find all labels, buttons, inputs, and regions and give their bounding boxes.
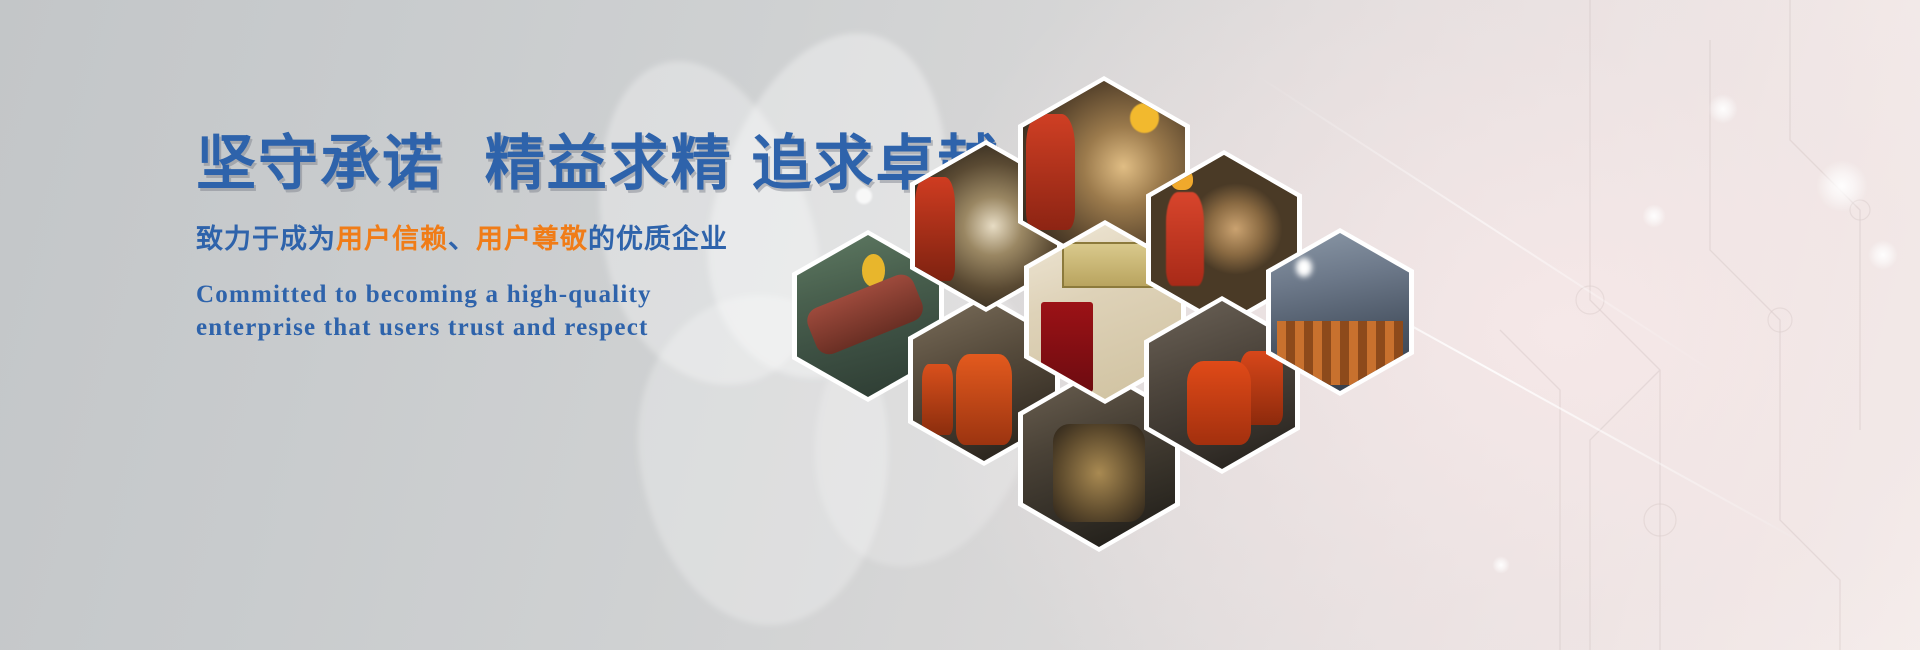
glow-dot-4 [1642, 204, 1666, 228]
glow-dot-3 [1868, 240, 1898, 270]
subtitle-lead: 致力于成为 [196, 224, 336, 254]
glow-dot-1 [1708, 94, 1738, 124]
subtitle-highlight-1: 用户信赖 [336, 224, 448, 254]
headline-part-1: 坚守承诺 [196, 130, 444, 197]
glow-dot-6 [1492, 556, 1510, 574]
headline-part-2: 精益求精 [485, 130, 733, 197]
circuit-board-tracery [1360, 0, 1920, 650]
hexagon-photo-cluster [778, 58, 1418, 508]
subtitle-highlight-2: 用户尊敬 [476, 224, 588, 254]
subtitle-separator: 、 [448, 224, 476, 254]
photo-copper-bar-assembly-line [1271, 233, 1409, 391]
hero-banner: 坚守承诺 精益求精 追求卓越 致力于成为用户信赖、用户尊敬的优质企业 Commi… [0, 0, 1920, 650]
subtitle-tail: 的优质企业 [588, 224, 728, 254]
glow-dot-2 [1816, 160, 1868, 212]
